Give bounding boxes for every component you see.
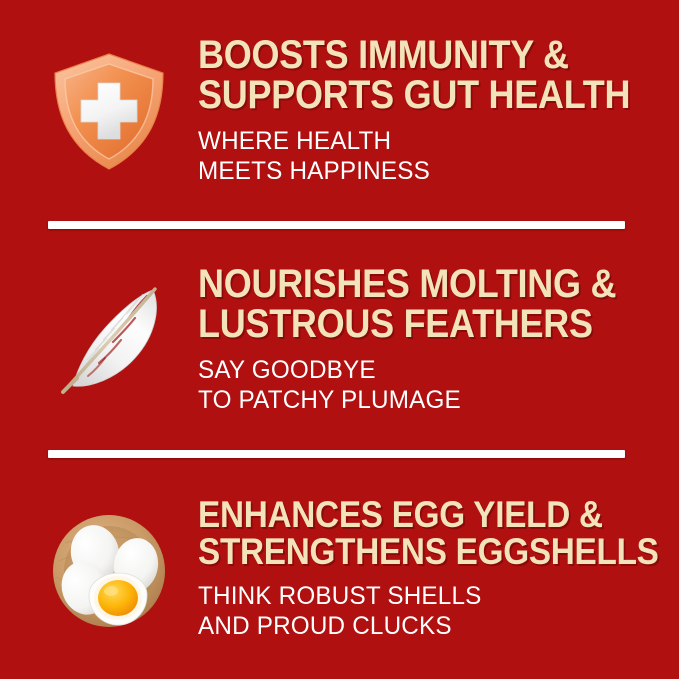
- egg-bowl-icon: [34, 494, 184, 644]
- headline-line-2: SUPPORTS GUT HEALTH: [198, 76, 630, 115]
- section-divider-1: [48, 221, 625, 229]
- benefit-text-eggs: ENHANCES EGG YIELD & STRENGTHENS EGGSHEL…: [184, 497, 679, 640]
- headline-line-1: ENHANCES EGG YIELD &: [198, 497, 659, 533]
- shield-cross-icon: [34, 36, 184, 186]
- headline-line-2: LUSTROUS FEATHERS: [198, 305, 616, 344]
- section-divider-2: [48, 450, 625, 458]
- egg-bowl-icon-svg: [43, 503, 175, 635]
- shield-cross-icon-svg: [43, 45, 175, 177]
- benefit-row-feathers: NOURISHES MOLTING & LUSTROUS FEATHERS SA…: [0, 229, 679, 450]
- feather-icon: [34, 265, 184, 415]
- subline-line-2: TO PATCHY PLUMAGE: [198, 386, 649, 414]
- headline-line-2: STRENGTHENS EGGSHELLS: [198, 534, 659, 570]
- benefit-row-immunity: BOOSTS IMMUNITY & SUPPORTS GUT HEALTH WH…: [0, 0, 679, 221]
- benefits-infographic: BOOSTS IMMUNITY & SUPPORTS GUT HEALTH WH…: [0, 0, 679, 679]
- subline-line-1: SAY GOODBYE: [198, 356, 649, 384]
- subline-line-2: AND PROUD CLUCKS: [198, 612, 679, 640]
- benefit-text-feathers: NOURISHES MOLTING & LUSTROUS FEATHERS SA…: [184, 265, 663, 413]
- subline-line-1: WHERE HEALTH: [198, 127, 664, 155]
- benefit-text-immunity: BOOSTS IMMUNITY & SUPPORTS GUT HEALTH WH…: [184, 36, 678, 184]
- subline-line-2: MEETS HAPPINESS: [198, 157, 664, 185]
- headline-line-1: NOURISHES MOLTING &: [198, 265, 616, 304]
- headline-line-1: BOOSTS IMMUNITY &: [198, 36, 630, 75]
- subline-line-1: THINK ROBUST SHELLS: [198, 582, 679, 610]
- benefit-row-eggs: ENHANCES EGG YIELD & STRENGTHENS EGGSHEL…: [0, 458, 679, 679]
- feather-icon-svg: [43, 274, 175, 406]
